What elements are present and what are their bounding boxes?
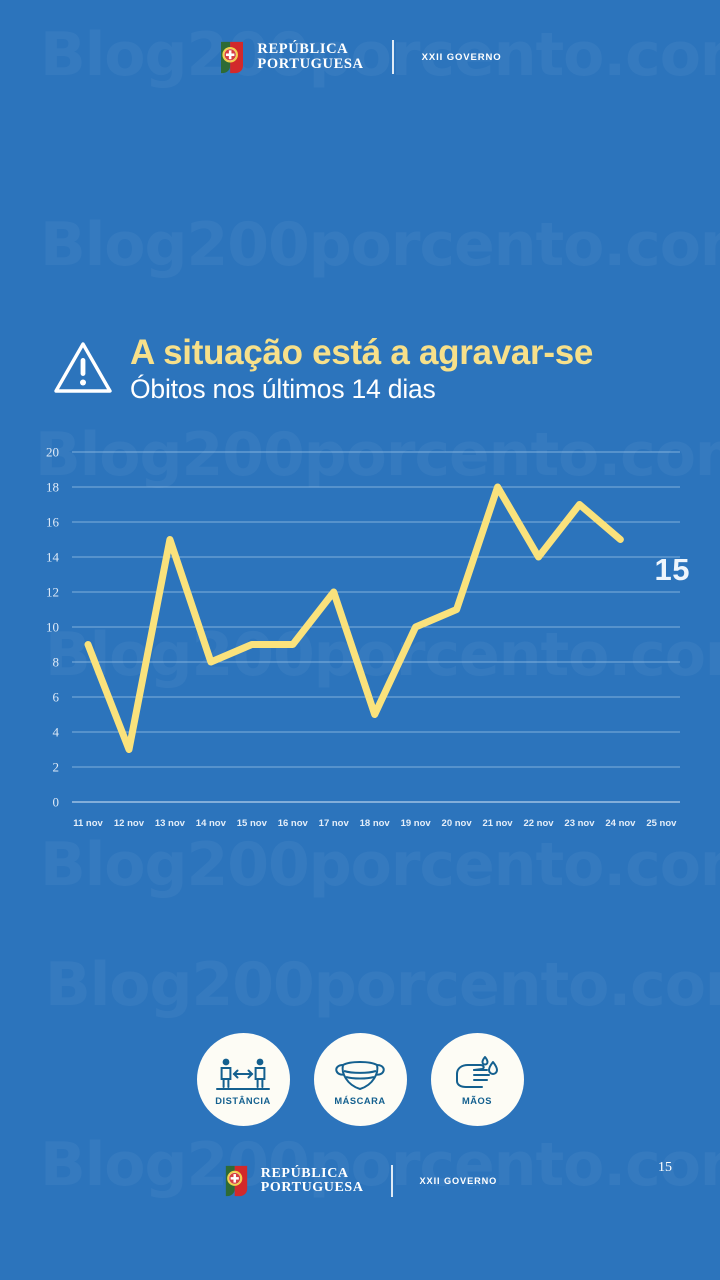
x-axis-tick-label: 13 nov — [155, 818, 186, 829]
chart-data-line — [88, 487, 620, 750]
warning-triangle-icon — [52, 339, 114, 397]
page-subtitle: Óbitos nos últimos 14 dias — [130, 374, 593, 404]
watermark-text: Blog200porcento.com — [40, 210, 720, 280]
x-axis-tick-label: 12 nov — [114, 818, 145, 829]
deaths-line-chart: 02468101214161820 11 nov12 nov13 nov14 n… — [0, 440, 720, 840]
y-axis-tick-label: 0 — [53, 795, 60, 810]
y-axis-tick-label: 8 — [53, 655, 60, 670]
x-axis-tick-label: 16 nov — [278, 818, 309, 829]
y-axis-tick-label: 6 — [53, 690, 60, 705]
badge-label: MÁSCARA — [334, 1096, 385, 1106]
badge-label: MÃOS — [462, 1096, 492, 1106]
y-axis-tick-label: 12 — [46, 585, 59, 600]
y-axis-tick-label: 14 — [46, 550, 60, 565]
x-axis-tick-label: 15 nov — [237, 818, 268, 829]
badge-distancia: DISTÂNCIA — [197, 1033, 290, 1126]
face-mask-icon — [332, 1054, 388, 1094]
watermark-text: Blog200porcento.com — [45, 950, 720, 1020]
x-axis-tick-label: 24 nov — [605, 818, 636, 829]
portugal-coat-of-arms-icon — [223, 1165, 250, 1197]
y-axis-tick-label: 4 — [53, 725, 60, 740]
x-axis-tick-label: 25 nov — [646, 818, 677, 829]
footer: REPÚBLICA PORTUGUESA XXII GOVERNO — [0, 1165, 720, 1197]
y-axis-tick-label: 20 — [46, 445, 59, 460]
logo-line-1: REPÚBLICA — [257, 42, 363, 57]
social-distance-icon — [215, 1054, 271, 1094]
x-axis-tick-label: 20 nov — [442, 818, 473, 829]
x-axis-tick-label: 18 nov — [360, 818, 391, 829]
watermark-text: Blog200porcento.com — [40, 830, 720, 900]
title-text-group: A situação está a agravar-se Óbitos nos … — [130, 333, 593, 405]
header: REPÚBLICA PORTUGUESA XXII GOVERNO — [0, 40, 720, 74]
y-axis-tick-label: 18 — [46, 480, 59, 495]
badge-label: DISTÂNCIA — [215, 1096, 271, 1106]
x-axis-tick-label: 19 nov — [401, 818, 432, 829]
hand-wash-icon — [449, 1054, 505, 1094]
y-axis-tick-label: 10 — [46, 620, 59, 635]
footer-logo-line-1: REPÚBLICA — [261, 1167, 364, 1181]
x-axis-tick-label: 14 nov — [196, 818, 227, 829]
badge-maos: MÃOS — [431, 1033, 524, 1126]
x-axis-tick-label: 22 nov — [523, 818, 554, 829]
chart-canvas: 02468101214161820 11 nov12 nov13 nov14 n… — [0, 440, 720, 840]
logo-wordmark: REPÚBLICA PORTUGUESA — [257, 42, 363, 72]
x-axis-tick-label: 11 nov — [73, 818, 103, 829]
chart-y-axis-labels: 02468101214161820 — [46, 445, 60, 810]
prevention-badges: DISTÂNCIA MÁSCARA MÃOS — [0, 1033, 720, 1126]
chart-gridlines — [72, 452, 680, 802]
chart-end-value-label: 15 — [655, 552, 690, 588]
page-title: A situação está a agravar-se — [130, 333, 593, 372]
badge-mascara: MÁSCARA — [314, 1033, 407, 1126]
portugal-coat-of-arms-icon — [218, 41, 246, 74]
footer-republica-portuguesa-logo: REPÚBLICA PORTUGUESA XXII GOVERNO — [223, 1165, 497, 1197]
footer-logo-wordmark: REPÚBLICA PORTUGUESA — [261, 1167, 364, 1196]
footer-logo-line-2: PORTUGUESA — [261, 1181, 364, 1195]
government-label: XXII GOVERNO — [422, 52, 502, 63]
y-axis-tick-label: 2 — [53, 760, 60, 775]
title-block: A situação está a agravar-se Óbitos nos … — [52, 333, 692, 405]
logo-line-2: PORTUGUESA — [257, 57, 363, 72]
x-axis-tick-label: 21 nov — [483, 818, 514, 829]
republica-portuguesa-logo: REPÚBLICA PORTUGUESA XXII GOVERNO — [218, 40, 501, 74]
logo-divider — [392, 40, 394, 74]
x-axis-tick-label: 23 nov — [564, 818, 595, 829]
page-number: 15 — [658, 1160, 672, 1176]
footer-logo-divider — [391, 1165, 393, 1197]
y-axis-tick-label: 16 — [46, 515, 60, 530]
chart-x-axis-labels: 11 nov12 nov13 nov14 nov15 nov16 nov17 n… — [73, 818, 677, 829]
footer-government-label: XXII GOVERNO — [420, 1176, 498, 1186]
x-axis-tick-label: 17 nov — [319, 818, 350, 829]
